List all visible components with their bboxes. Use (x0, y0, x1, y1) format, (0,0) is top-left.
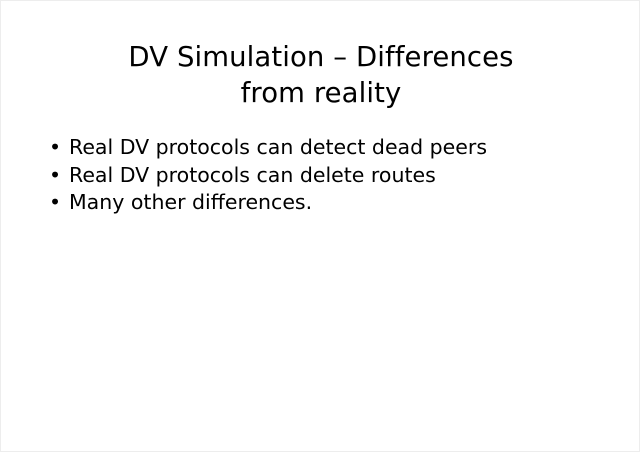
slide-title: DV Simulation – Differences from reality (41, 39, 601, 111)
list-item-label: Many other differences. (69, 189, 547, 216)
bullet-point-icon: • (49, 134, 61, 161)
list-item: • Real DV protocols can delete routes (47, 162, 547, 189)
slide-bullet-list: • Real DV protocols can detect dead peer… (47, 134, 547, 217)
list-item-label: Real DV protocols can delete routes (69, 162, 547, 189)
list-item: • Many other differences. (47, 189, 547, 216)
list-item: • Real DV protocols can detect dead peer… (47, 134, 547, 161)
bullet-point-icon: • (49, 189, 61, 216)
presentation-slide: DV Simulation – Differences from reality… (0, 0, 640, 452)
list-item-label: Real DV protocols can detect dead peers (69, 134, 547, 161)
bullet-point-icon: • (49, 162, 61, 189)
